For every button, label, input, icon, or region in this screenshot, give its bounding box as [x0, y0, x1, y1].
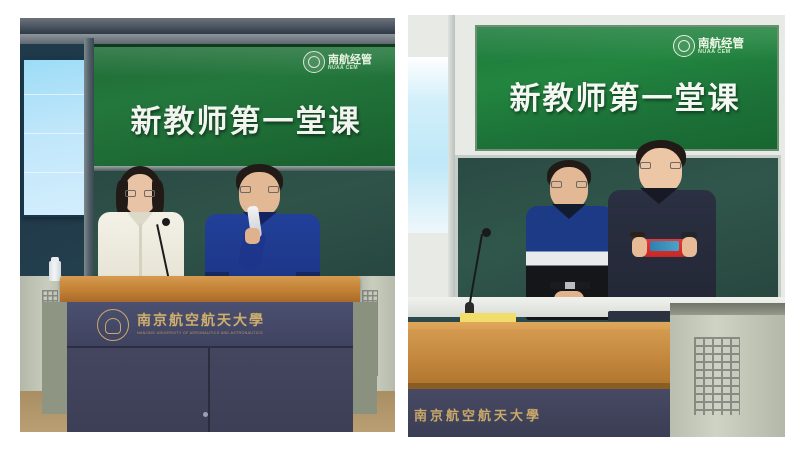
- hair-side-right: [152, 180, 164, 216]
- nuaa-seal-icon: [673, 35, 695, 57]
- podium-body: 南京航空航天大學 NANJING UNIVERSITY OF AERONAUTI…: [67, 302, 353, 432]
- podium-side-panel-left: [42, 302, 67, 414]
- hair-side-left: [116, 180, 128, 216]
- photo-pair-canvas: 南航经管 NUAA CEM 新教师第一堂课: [0, 0, 800, 450]
- right-photo[interactable]: 南航经管 NUAA CEM 新教师第一堂课: [408, 15, 785, 437]
- face: [550, 167, 588, 209]
- podium-side-panel-right: [353, 302, 377, 414]
- banner-logo: 南航经管 NUAA CEM: [673, 35, 744, 57]
- banner-wordmark-en: NUAA CEM: [328, 65, 372, 71]
- wall-mullion: [84, 38, 94, 280]
- podium-microphone-head: [482, 228, 491, 237]
- nuaa-crest-icon: [97, 309, 129, 341]
- left-speaker-man: [205, 164, 320, 288]
- handheld-device: [641, 239, 688, 257]
- podium-door-knob: [203, 412, 208, 417]
- banner-wordmark-cn: 南航经管: [698, 37, 744, 49]
- hand-left: [632, 237, 647, 257]
- face: [639, 148, 682, 193]
- blouse-placket: [139, 224, 142, 284]
- glasses-icon: [640, 162, 681, 167]
- left-speaker-woman: [98, 166, 184, 286]
- speaker-grille-icon: [694, 337, 740, 415]
- podium-microphone-head: [162, 218, 170, 226]
- face: [239, 172, 280, 216]
- ceiling-band-secondary: [20, 34, 395, 44]
- banner-wordmark-cn: 南航经管: [328, 54, 372, 65]
- podium-branding: 南京航空航天大學 NANJING UNIVERSITY OF AERONAUTI…: [97, 309, 265, 341]
- right-presenter-1: [526, 160, 614, 320]
- banner-title: 新教师第一堂课: [485, 73, 765, 118]
- banner-logo: 南航经管 NUAA CEM: [303, 51, 372, 73]
- banner-wordmark: 南航经管 NUAA CEM: [328, 54, 372, 71]
- banner-wordmark: 南航经管 NUAA CEM: [698, 37, 744, 55]
- hand-right: [682, 237, 697, 257]
- ceiling-band: [20, 18, 395, 34]
- glasses-icon: [240, 186, 279, 191]
- podium-door-split: [208, 348, 210, 432]
- left-photo[interactable]: 南航经管 NUAA CEM 新教师第一堂课: [20, 18, 395, 432]
- podium-brand-cn: 南京航空航天大學: [414, 405, 542, 424]
- glasses-icon: [125, 190, 155, 195]
- equipment-rack: [670, 315, 785, 437]
- podium-brand-en: NANJING UNIVERSITY OF AERONAUTICS AND AS…: [137, 330, 265, 336]
- nuaa-seal-icon: [303, 51, 325, 73]
- belt-buckle: [565, 282, 575, 289]
- window-frame: [448, 15, 455, 315]
- right-presenter-2: [608, 140, 716, 320]
- hand: [245, 228, 260, 244]
- podium-brand-text: 南京航空航天大學 NANJING UNIVERSITY OF AERONAUTI…: [137, 314, 265, 336]
- banner-wordmark-en: NUAA CEM: [698, 49, 744, 55]
- lectern-face: [408, 329, 670, 385]
- glasses-icon: [551, 181, 587, 186]
- lectern-desktop: [60, 276, 360, 302]
- projection-screen: [22, 58, 86, 217]
- podium-brand-cn: 南京航空航天大學: [137, 314, 265, 329]
- banner-title: 新教师第一堂课: [103, 96, 389, 141]
- podium-body: 南京航空航天大學: [408, 389, 670, 437]
